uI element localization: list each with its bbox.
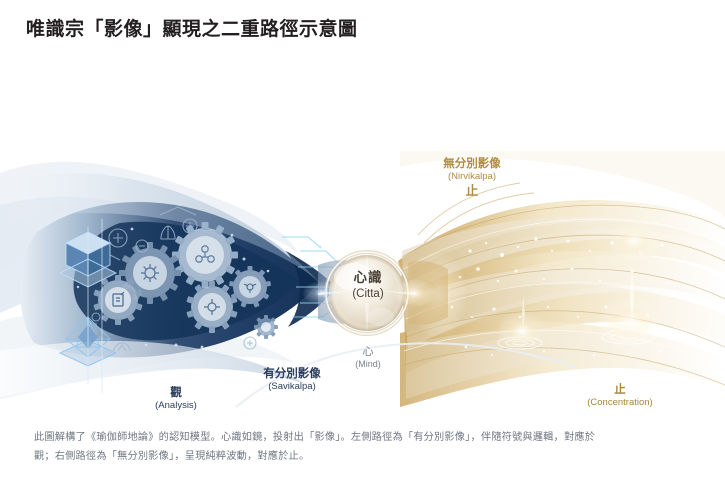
- diagram-figure: 無分別影像 (Nirvikalpa) 止 有分別影像 (Savikalpa) 觀…: [0, 55, 725, 410]
- label-analysis: 觀 (Analysis): [128, 386, 224, 410]
- caption-line-1: 此圖解構了《瑜伽師地論》的認知模型。心識如鏡，投射出「影像」。左側路徑為「有分別…: [34, 428, 694, 447]
- label-concentration-en: (Concentration): [540, 397, 700, 409]
- label-citta-cn: 心識: [318, 270, 418, 287]
- label-mind-cn: 心: [318, 346, 418, 359]
- label-savikalpa-en: (Savikalpa): [222, 381, 362, 393]
- label-mind: 心 (Mind): [318, 346, 418, 370]
- label-concentration-cn: 止: [540, 383, 700, 397]
- label-citta: 心識 (Citta): [318, 270, 418, 301]
- label-analysis-cn: 觀: [128, 386, 224, 400]
- label-mind-en: (Mind): [318, 359, 418, 370]
- label-savikalpa: 有分別影像 (Savikalpa): [222, 367, 362, 393]
- label-nirvikalpa-cn: 無分別影像: [392, 157, 552, 171]
- figure-caption: 此圖解構了《瑜伽師地論》的認知模型。心識如鏡，投射出「影像」。左側路徑為「有分別…: [34, 428, 694, 467]
- label-analysis-en: (Analysis): [128, 400, 224, 410]
- page-title: 唯識宗「影像」顯現之二重路徑示意圖: [26, 14, 358, 41]
- label-nirvikalpa-en: (Nirvikalpa): [392, 171, 552, 183]
- caption-line-2: 觀；右側路徑為「無分別影像」，呈現純粹波動，對應於止。: [34, 447, 694, 466]
- diagram-page: 唯識宗「影像」顯現之二重路徑示意圖: [0, 0, 725, 477]
- label-concentration: 止 (Concentration): [540, 383, 700, 409]
- label-nirvikalpa: 無分別影像 (Nirvikalpa) 止: [392, 157, 552, 199]
- label-citta-en: (Citta): [318, 287, 418, 301]
- label-nirvikalpa-zhi: 止: [392, 184, 552, 199]
